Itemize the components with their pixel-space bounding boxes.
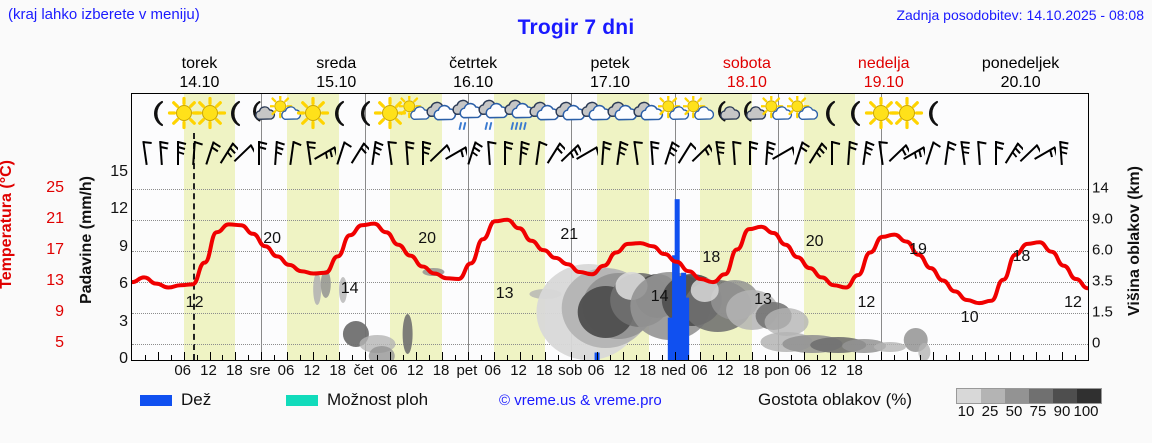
cloudheight-tick: 14 [1092, 179, 1109, 196]
x-axis-label: 18 [846, 362, 863, 379]
temperature-axis-label: Temperatura (°C) [0, 160, 16, 289]
x-axis-label: 18 [433, 362, 450, 379]
cloudheight-tick: 3.5 [1092, 273, 1113, 290]
x-axis-label: 12 [407, 362, 424, 379]
x-tick [726, 352, 727, 360]
x-tick [494, 352, 495, 360]
x-tick [222, 355, 223, 360]
x-axis-label: 06 [484, 362, 501, 379]
x-tick [662, 355, 663, 360]
x-tick [455, 355, 456, 360]
x-tick [416, 352, 417, 360]
x-tick [558, 355, 559, 360]
x-tick [545, 352, 546, 360]
x-axis-label: 06 [174, 362, 191, 379]
x-tick [855, 352, 856, 360]
x-axis-label: 18 [743, 362, 760, 379]
day-name: nedelja [815, 54, 952, 73]
day-name: torek [131, 54, 268, 73]
x-axis-label: 12 [820, 362, 837, 379]
temperature-value-label: 13 [754, 291, 772, 309]
temperature-curve-layer [132, 94, 1088, 360]
x-axis-label: 18 [226, 362, 243, 379]
x-tick [365, 352, 366, 360]
x-tick [1049, 355, 1050, 360]
cloudheight-axis-label: Višina oblakov (km) [1126, 166, 1144, 316]
legend-rain-label: Dež [181, 390, 211, 410]
x-tick [881, 352, 882, 360]
x-tick [313, 352, 314, 360]
x-tick [868, 355, 869, 360]
x-tick [804, 352, 805, 360]
day-header-sobota: sobota18.10 [678, 54, 815, 92]
x-tick [584, 355, 585, 360]
legend-item-rain: Dež [140, 390, 211, 410]
x-axis-label: čet [354, 362, 374, 379]
x-tick [184, 352, 185, 360]
cloud-density-swatch [957, 389, 981, 403]
x-tick [610, 355, 611, 360]
cloud-density-step-label: 90 [1054, 403, 1071, 420]
x-tick [843, 355, 844, 360]
day-date: 19.10 [815, 73, 952, 92]
x-axis-label: pon [764, 362, 789, 379]
day-name: četrtek [405, 54, 542, 73]
x-tick [933, 352, 934, 360]
x-tick [1062, 352, 1063, 360]
x-tick [817, 355, 818, 360]
x-tick [481, 355, 482, 360]
x-tick [235, 352, 236, 360]
x-tick [339, 352, 340, 360]
legend-showers-label: Možnost ploh [327, 390, 428, 410]
x-tick [532, 355, 533, 360]
x-axis-label: pet [456, 362, 477, 379]
x-tick [1075, 355, 1076, 360]
x-tick [1023, 355, 1024, 360]
temperature-tick: 9 [55, 303, 64, 321]
day-name: sobota [678, 54, 815, 73]
x-tick [300, 355, 301, 360]
cloud-density-step-label: 100 [1073, 403, 1098, 420]
x-axis-label: 12 [614, 362, 631, 379]
x-tick [326, 355, 327, 360]
day-name: petek [542, 54, 679, 73]
precipitation-axis-label: Padavine (mm/h) [78, 176, 96, 304]
precipitation-tick: 12 [110, 200, 128, 218]
cloud-density-swatch [1005, 389, 1029, 403]
x-tick [377, 355, 378, 360]
x-tick [998, 355, 999, 360]
day-header-četrtek: četrtek16.10 [405, 54, 542, 92]
copyright-link[interactable]: © vreme.us & vreme.pro [499, 392, 662, 409]
day-header-ponedeljek: ponedeljek20.10 [952, 54, 1089, 92]
temperature-value-label: 21 [560, 226, 578, 244]
x-axis-label: 18 [536, 362, 553, 379]
cloud-density-ramp-labels: 1025507590100 [948, 403, 1128, 421]
x-tick [468, 352, 469, 360]
rain-swatch [140, 395, 172, 406]
temperature-tick: 13 [46, 272, 64, 290]
temperature-value-label: 20 [806, 233, 824, 251]
temperature-tick: 21 [46, 210, 64, 228]
x-tick [442, 352, 443, 360]
x-tick [352, 355, 353, 360]
cloud-density-swatch [1053, 389, 1077, 403]
temperature-value-label: 18 [702, 249, 720, 267]
chart-legend: Dež Možnost ploh © vreme.us & vreme.pro … [131, 386, 1141, 426]
cloud-density-step-label: 25 [982, 403, 999, 420]
temperature-value-label: 14 [651, 288, 669, 306]
x-tick [158, 352, 159, 360]
x-tick [287, 352, 288, 360]
day-date: 15.10 [268, 73, 405, 92]
x-tick [1036, 352, 1037, 360]
temperature-value-label: 14 [341, 280, 359, 298]
temperature-value-label: 12 [857, 294, 875, 312]
x-axis-label: 18 [639, 362, 656, 379]
cloudheight-axis-title: Višina oblakov (km) [1126, 166, 1144, 321]
cloud-density-step-label: 75 [1030, 403, 1047, 420]
cloudheight-tick: 1.5 [1092, 304, 1113, 321]
temperature-value-label: 19 [909, 241, 927, 259]
x-tick [688, 355, 689, 360]
precipitation-axis-title: Padavine (mm/h) [78, 176, 96, 309]
x-tick [636, 355, 637, 360]
day-header-strip: torek14.10sreda15.10četrtek16.10petek17.… [131, 54, 1089, 92]
day-date: 17.10 [542, 73, 679, 92]
x-tick [946, 355, 947, 360]
day-header-nedelja: nedelja19.10 [815, 54, 952, 92]
x-tick [261, 352, 262, 360]
cloud-density-step-label: 50 [1006, 403, 1023, 420]
temperature-tick: 25 [46, 179, 64, 197]
x-tick [675, 352, 676, 360]
x-tick [907, 352, 908, 360]
x-tick [765, 355, 766, 360]
x-tick [248, 355, 249, 360]
temperature-value-label: 20 [418, 230, 436, 248]
temperature-value-label: 20 [263, 230, 281, 248]
x-axis-label: 12 [304, 362, 321, 379]
cloudheight-tick: 0 [1092, 335, 1100, 352]
legend-item-showers: Možnost ploh [286, 390, 428, 410]
x-tick [894, 355, 895, 360]
x-axis-label: 12 [717, 362, 734, 379]
x-axis-labels: 061218sre061218čet061218pet061218sob0612… [131, 362, 1089, 382]
x-axis-label: ned [661, 362, 686, 379]
x-tick [274, 355, 275, 360]
x-tick [920, 355, 921, 360]
cloud-density-title: Gostota oblakov (%) [758, 390, 912, 410]
x-axis-label: 06 [278, 362, 295, 379]
day-header-torek: torek14.10 [131, 54, 268, 92]
x-axis-label: sob [558, 362, 582, 379]
cloudheight-tick: 6.0 [1092, 241, 1113, 258]
cloud-density-step-label: 10 [958, 403, 975, 420]
x-tick [713, 355, 714, 360]
x-tick [623, 352, 624, 360]
day-header-petek: petek17.10 [542, 54, 679, 92]
x-tick [197, 355, 198, 360]
day-date: 14.10 [131, 73, 268, 92]
x-tick [739, 355, 740, 360]
x-tick [429, 355, 430, 360]
x-tick [171, 355, 172, 360]
day-date: 16.10 [405, 73, 542, 92]
x-tick [507, 355, 508, 360]
x-axis-label: 06 [588, 362, 605, 379]
x-tick [985, 352, 986, 360]
x-tick [403, 355, 404, 360]
x-tick [145, 355, 146, 360]
precipitation-tick-labels: 15129630 [104, 93, 128, 361]
temperature-value-label: 10 [961, 309, 979, 327]
x-tick [520, 352, 521, 360]
x-tick [700, 352, 701, 360]
x-axis-label: 06 [691, 362, 708, 379]
precipitation-tick: 0 [119, 350, 128, 368]
precipitation-tick: 9 [119, 238, 128, 256]
x-axis-label: 12 [200, 362, 217, 379]
showers-swatch [286, 395, 318, 406]
x-axis-label: 06 [794, 362, 811, 379]
day-date: 18.10 [678, 73, 815, 92]
cloud-density-ramp [956, 388, 1102, 404]
temperature-value-label: 12 [1064, 294, 1082, 312]
day-name: sreda [268, 54, 405, 73]
x-tick [597, 352, 598, 360]
x-axis-label: 12 [510, 362, 527, 379]
temperature-axis-title: Temperatura (°C) [0, 160, 28, 294]
x-tick [571, 352, 572, 360]
x-tick [1010, 352, 1011, 360]
temperature-value-label: 12 [186, 294, 204, 312]
day-date: 20.10 [952, 73, 1089, 92]
temperature-tick-labels: 2521171395 [30, 93, 64, 361]
x-tick [649, 352, 650, 360]
x-tick [210, 352, 211, 360]
day-header-sreda: sreda15.10 [268, 54, 405, 92]
day-name: ponedeljek [952, 54, 1089, 73]
x-axis-ticks [132, 352, 1088, 360]
x-axis-label: sre [250, 362, 271, 379]
temperature-value-label: 13 [496, 285, 514, 303]
x-tick [791, 355, 792, 360]
x-tick [752, 352, 753, 360]
x-axis-label: 18 [329, 362, 346, 379]
last-update-note: Zadnja posodobitev: 14.10.2025 - 08:08 [896, 7, 1144, 23]
precipitation-tick: 3 [119, 313, 128, 331]
x-tick [972, 355, 973, 360]
x-tick [959, 352, 960, 360]
temperature-value-label: 18 [1012, 248, 1030, 266]
precipitation-tick: 6 [119, 275, 128, 293]
cloudheight-tick-labels: 149.06.03.51.50 [1092, 93, 1128, 361]
cloudheight-tick: 9.0 [1092, 210, 1113, 227]
temperature-tick: 17 [46, 241, 64, 259]
precipitation-tick: 15 [110, 163, 128, 181]
forecast-plot[interactable]: 122014201321141813201219101812 [131, 93, 1089, 361]
x-tick [390, 352, 391, 360]
x-tick [778, 352, 779, 360]
x-axis-label: 06 [381, 362, 398, 379]
cloud-density-swatch [1029, 389, 1053, 403]
cloud-density-swatch [1077, 389, 1101, 403]
cloud-density-swatch [981, 389, 1005, 403]
x-tick [830, 352, 831, 360]
temperature-tick: 5 [55, 334, 64, 352]
